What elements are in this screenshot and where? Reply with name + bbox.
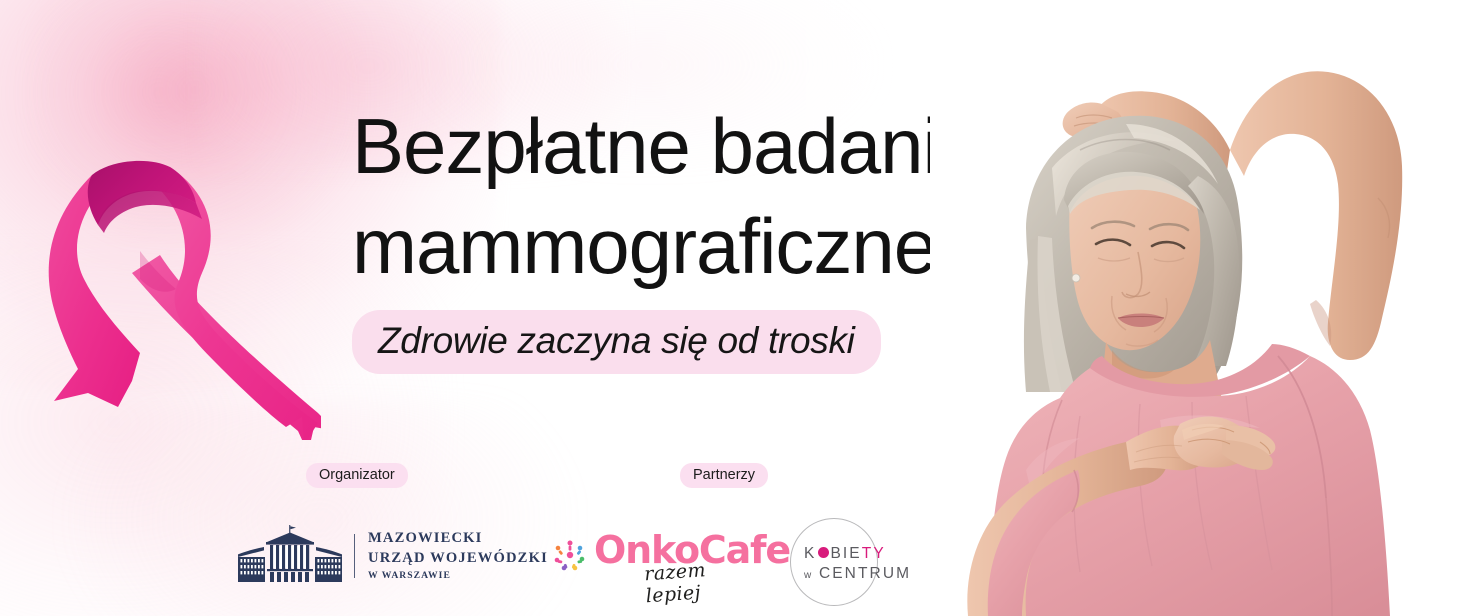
kobiety-line-1: KBIETY bbox=[804, 544, 911, 564]
partners-label-badge: Partnerzy bbox=[680, 463, 768, 488]
kobiety-line-2: w CENTRUM bbox=[804, 564, 911, 584]
kobiety-k: K bbox=[804, 545, 816, 562]
kobiety-bie: BIE bbox=[830, 545, 861, 562]
government-building-icon bbox=[234, 525, 346, 587]
organizer-logo-line-2: URZĄD WOJEWÓDZKI bbox=[368, 549, 548, 568]
page-title: Bezpłatne badania mammograficzne bbox=[352, 96, 1012, 296]
kobiety-ty: TY bbox=[862, 545, 886, 562]
kobiety-centrum: CENTRUM bbox=[819, 565, 911, 582]
organizer-label-badge: Organizator bbox=[306, 463, 408, 488]
people-circle-icon bbox=[551, 537, 589, 573]
kobiety-o-dot-icon bbox=[818, 547, 829, 558]
onkocafe-tagline: razem lepiej bbox=[644, 557, 743, 608]
woman-breast-self-examination-photo bbox=[930, 0, 1460, 616]
subtitle-badge: Zdrowie zaczyna się od troski bbox=[352, 310, 881, 374]
mammography-campaign-banner: Bezpłatne badania mammograficzne Zdrowie… bbox=[0, 0, 1460, 616]
logo-divider bbox=[354, 534, 355, 578]
subtitle-text: Zdrowie zaczyna się od troski bbox=[378, 320, 855, 362]
headline-line-2: mammograficzne bbox=[352, 196, 1012, 296]
partner-logo-onkocafe: OnkoCafe razem lepiej bbox=[551, 531, 741, 587]
partner-logo-kobiety-w-centrum: KBIETY w CENTRUM bbox=[786, 514, 906, 610]
organizer-logo-line-3: W WARSZAWIE bbox=[368, 570, 548, 583]
kobiety-wordmark: KBIETY w CENTRUM bbox=[804, 544, 911, 584]
organizer-logo: MAZOWIECKI URZĄD WOJEWÓDZKI W WARSZAWIE bbox=[234, 524, 548, 588]
headline-line-1: Bezpłatne badania bbox=[352, 96, 1012, 196]
kobiety-w: w bbox=[804, 570, 813, 581]
organizer-logo-text: MAZOWIECKI URZĄD WOJEWÓDZKI W WARSZAWIE bbox=[368, 529, 548, 582]
pink-awareness-ribbon-icon bbox=[36, 155, 321, 440]
organizer-logo-line-1: MAZOWIECKI bbox=[368, 529, 548, 548]
